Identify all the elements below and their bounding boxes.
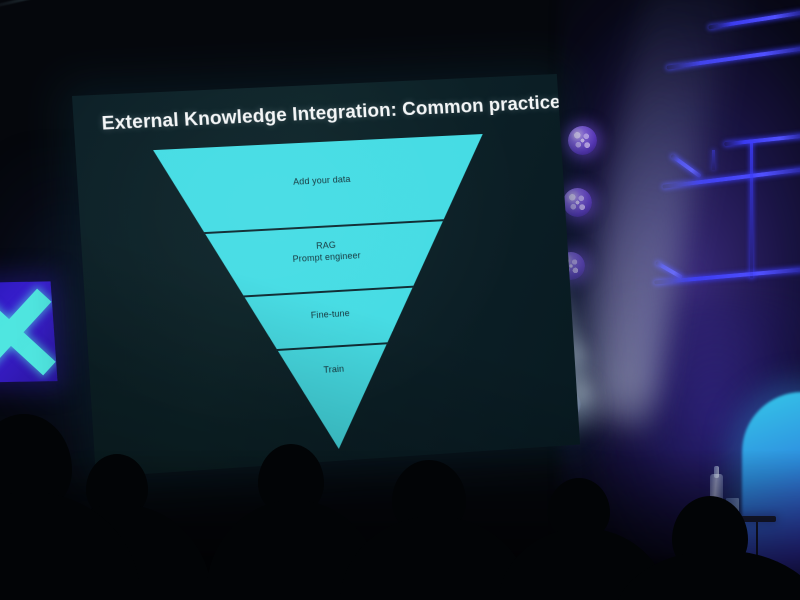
audience-shoulders	[28, 504, 212, 600]
side-table	[700, 516, 776, 522]
audience-shoulders	[0, 492, 140, 600]
audience-shoulders	[206, 500, 382, 600]
inverted-funnel-diagram: Add your data RAG Prompt engineer Fine-t…	[153, 134, 502, 460]
stage-photo: External Knowledge Integration: Common p…	[0, 0, 800, 600]
funnel-shape	[153, 134, 502, 460]
slide-title: External Knowledge Integration: Common p…	[101, 91, 571, 136]
side-table-leg	[756, 522, 758, 566]
slide-surface: External Knowledge Integration: Common p…	[72, 74, 580, 477]
audience-head	[392, 460, 466, 534]
led-vertical-icon	[750, 142, 753, 278]
aux-screen-x-logo	[0, 281, 58, 382]
stage-arc-panel	[742, 392, 800, 592]
par-can-light-1	[568, 126, 597, 155]
led-vertical-icon	[712, 150, 715, 170]
audience-shoulders	[340, 516, 530, 600]
projection-screen: External Knowledge Integration: Common p…	[72, 74, 580, 477]
led-bar-icon	[724, 134, 800, 146]
drinking-glass	[726, 498, 739, 515]
par-can-light-2	[563, 188, 592, 217]
side-table-leg	[716, 522, 718, 570]
ceiling-truss-beam	[0, 0, 234, 11]
water-bottle	[710, 474, 723, 518]
